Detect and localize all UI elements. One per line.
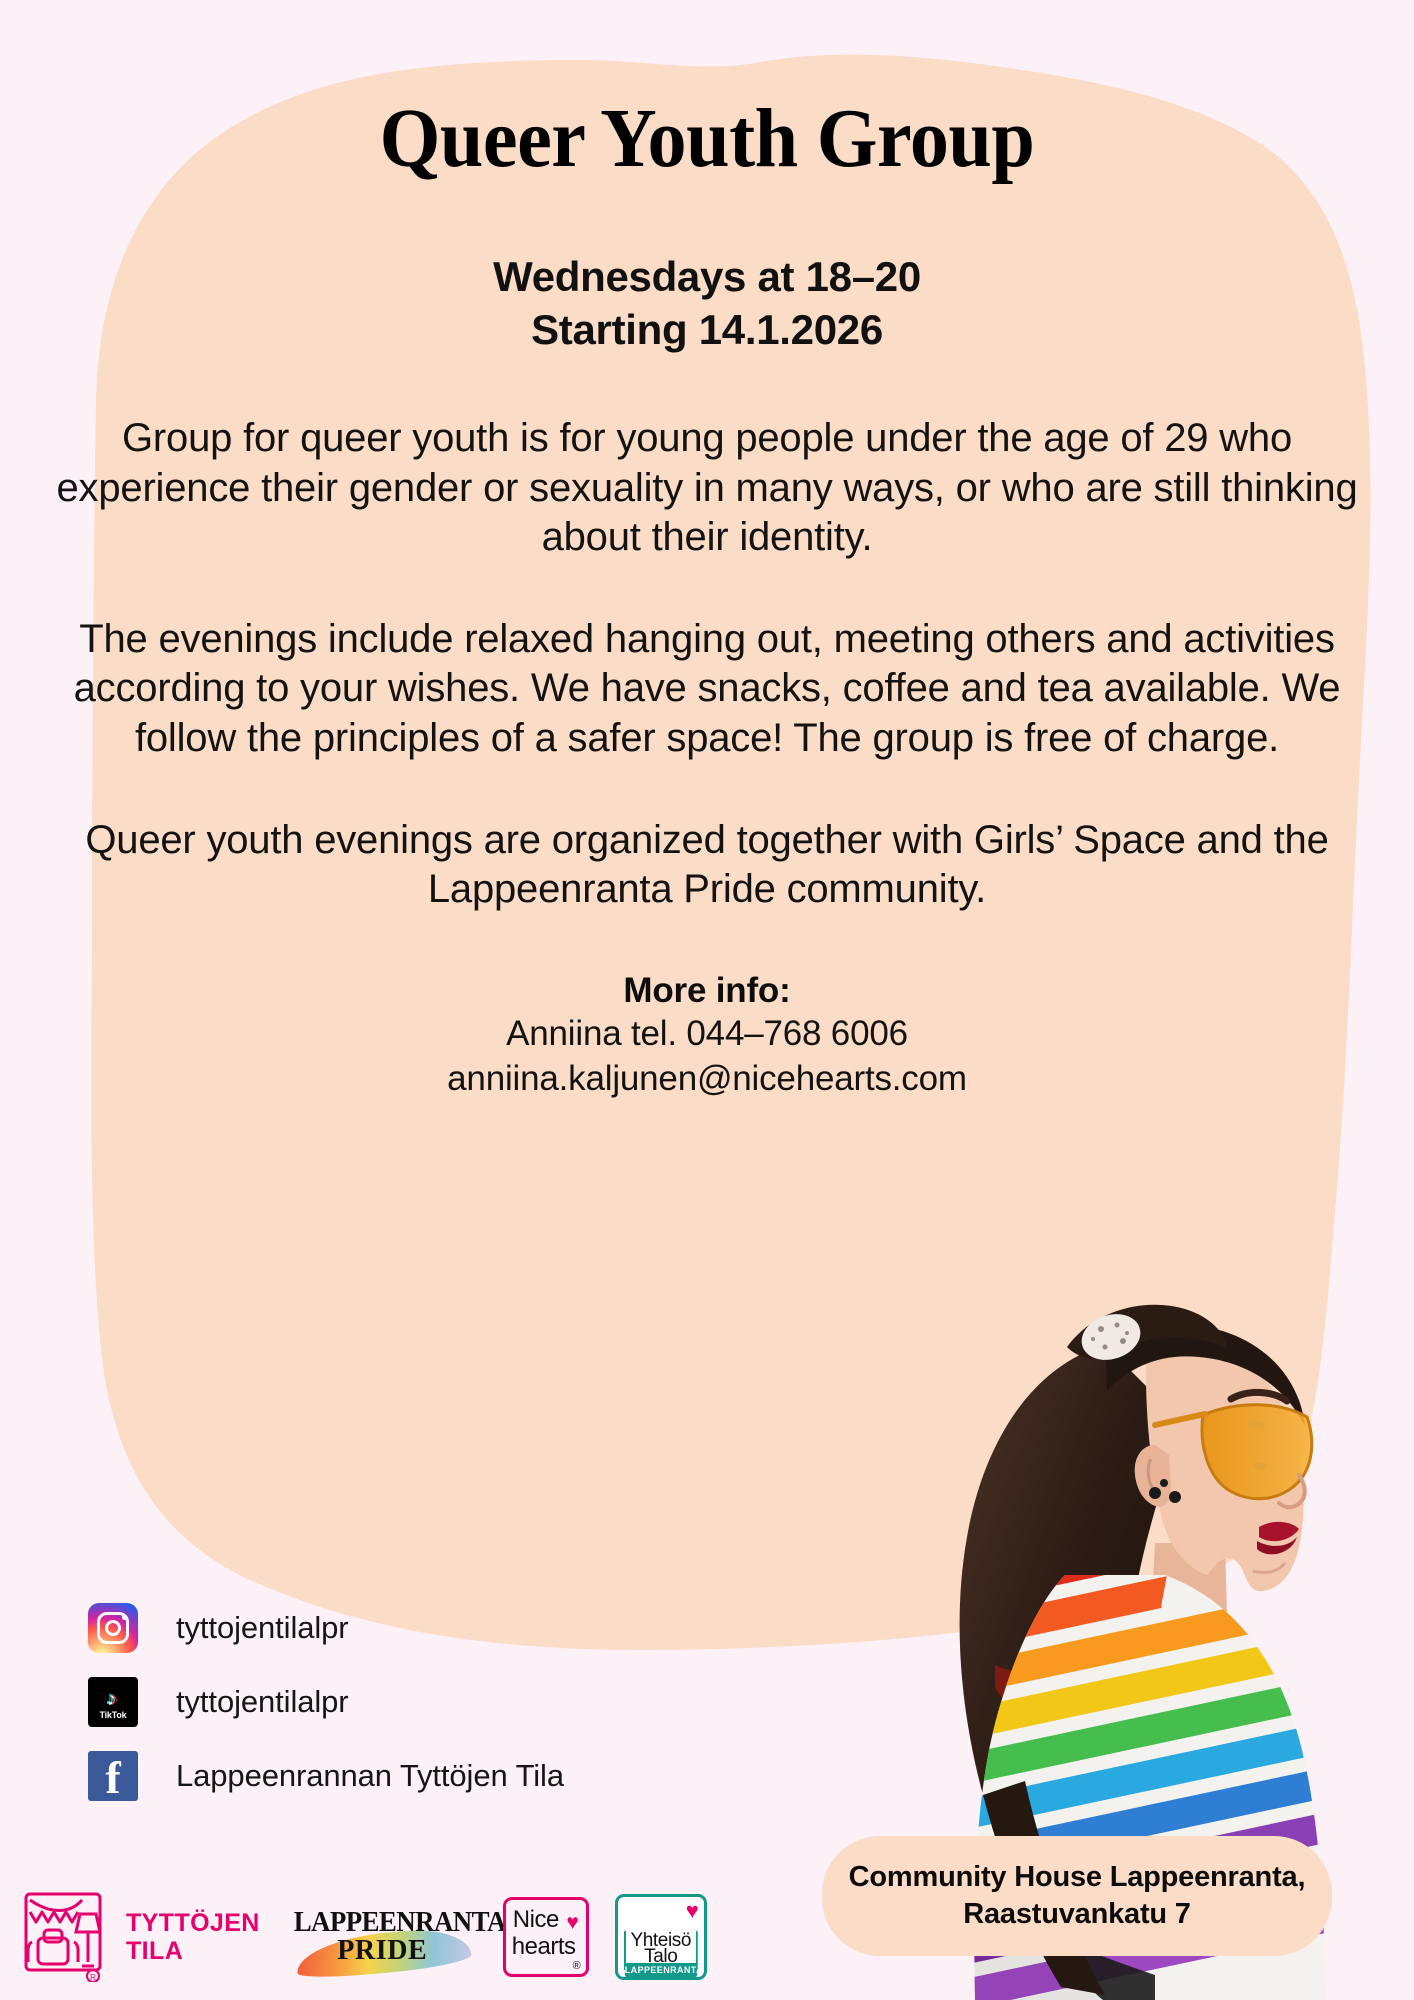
pride-line-2: PRIDE <box>290 1935 475 1967</box>
nicehearts-line-1: Nice <box>513 1906 559 1934</box>
more-info-heading: More info: <box>0 971 1414 1011</box>
schedule-line-2: Starting 14.1.2026 <box>0 304 1414 357</box>
social-links: tyttojentilalpr ♪ ♪ ♪ TikTok tyttojentil… <box>88 1600 564 1804</box>
tyttojen-tila-word-1: TYTTÖJEN <box>126 1909 260 1937</box>
tiktok-wordmark: TikTok <box>88 1710 138 1720</box>
address-badge: Community House Lappeenranta, Raastuvank… <box>822 1836 1332 1956</box>
facebook-icon[interactable]: f <box>88 1751 138 1801</box>
tiktok-icon[interactable]: ♪ ♪ ♪ TikTok <box>88 1677 138 1727</box>
more-info-block: More info: Anniina tel. 044–768 6006 ann… <box>0 971 1414 1102</box>
social-row-tiktok[interactable]: ♪ ♪ ♪ TikTok tyttojentilalpr <box>88 1674 564 1730</box>
tyttojen-tila-room-icon: R <box>24 1892 110 1982</box>
body-paragraph-2: The evenings include relaxed hanging out… <box>0 615 1414 764</box>
page-title: Queer Youth Group <box>49 90 1364 187</box>
social-row-instagram[interactable]: tyttojentilalpr <box>88 1600 564 1656</box>
more-info-phone: Anniina tel. 044–768 6006 <box>0 1011 1414 1057</box>
body-paragraph-1: Group for queer youth is for young peopl… <box>0 414 1414 563</box>
nicehearts-registered-mark: ® <box>573 1960 581 1972</box>
schedule-block: Wednesdays at 18–20 Starting 14.1.2026 <box>0 251 1414 356</box>
yhteisotalo-logo: ♥ Yhteisö Talo LAPPEENRANTA <box>615 1894 707 1980</box>
social-row-facebook[interactable]: f Lappeenrannan Tyttöjen Tila <box>88 1748 564 1804</box>
lappeenranta-pride-logo: LAPPEENRANTA PRIDE <box>290 1907 475 1967</box>
nicehearts-line-2: hearts <box>512 1933 576 1961</box>
poster-content: Queer Youth Group Wednesdays at 18–20 St… <box>0 0 1414 1102</box>
address-line-1: Community House Lappeenranta, <box>849 1859 1306 1896</box>
heart-icon: ♥ <box>686 1900 699 1922</box>
nicehearts-logo: Nice ♥ hearts ® <box>503 1897 589 1977</box>
instagram-handle: tyttojentilalpr <box>176 1610 349 1646</box>
footer-logo-strip: R TYTTÖJEN TILA LAPPEENRANTA PRIDE Nice … <box>0 1882 860 1992</box>
tyttojen-tila-wordmark: TYTTÖJEN TILA <box>126 1909 260 1965</box>
body-paragraph-3: Queer youth evenings are organized toget… <box>0 816 1414 915</box>
facebook-page-name: Lappeenrannan Tyttöjen Tila <box>176 1758 564 1794</box>
tyttojen-tila-word-2: TILA <box>126 1937 260 1965</box>
more-info-email: anniina.kaljunen@nicehearts.com <box>0 1056 1414 1102</box>
yhteisotalo-banner: LAPPEENRANTA <box>625 1963 697 1977</box>
heart-icon: ♥ <box>566 1912 578 1933</box>
address-line-2: Raastuvankatu 7 <box>963 1896 1191 1933</box>
svg-text:R: R <box>90 1973 96 1982</box>
instagram-icon[interactable] <box>88 1603 138 1653</box>
schedule-line-1: Wednesdays at 18–20 <box>0 251 1414 304</box>
tiktok-handle: tyttojentilalpr <box>176 1684 349 1720</box>
tyttojen-tila-logo: R TYTTÖJEN TILA <box>24 1892 260 1982</box>
poster-canvas: Queer Youth Group Wednesdays at 18–20 St… <box>0 0 1414 2000</box>
